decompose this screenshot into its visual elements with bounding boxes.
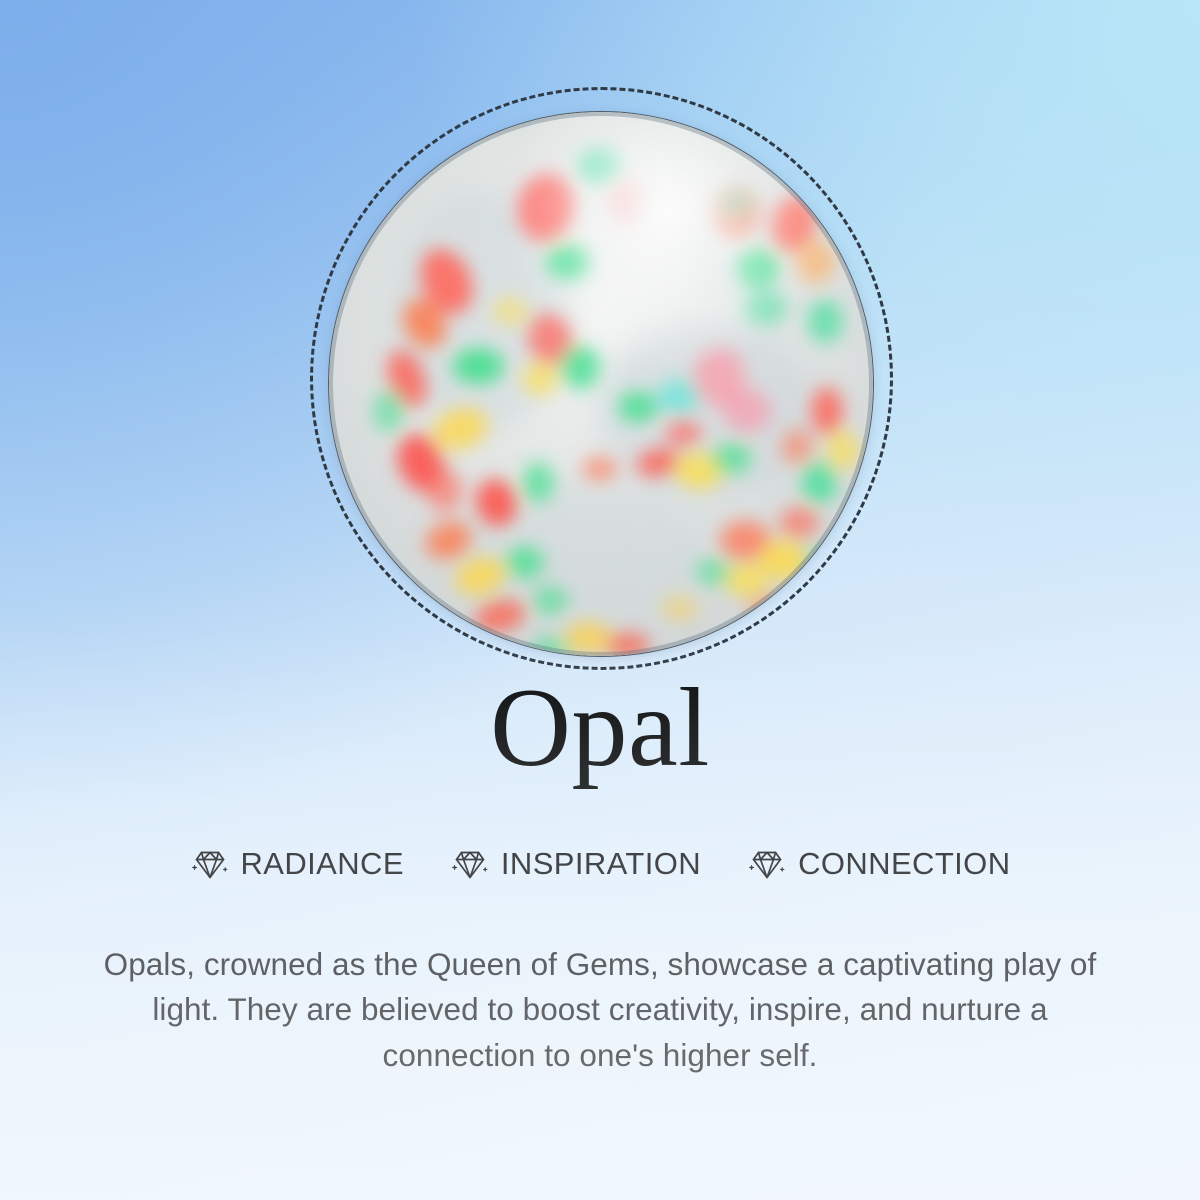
keyword-list: RADIANCE INSPIRATION [0, 844, 1200, 884]
keyword-label: CONNECTION [798, 846, 1010, 882]
gem-title: Opal [0, 672, 1200, 784]
gem-image-block [310, 87, 893, 670]
keyword-item-connection: CONNECTION [747, 844, 1010, 884]
diamond-gem-icon [450, 844, 490, 884]
keyword-label: INSPIRATION [501, 846, 701, 882]
gem-description: Opals, crowned as the Queen of Gems, sho… [100, 942, 1100, 1078]
keyword-item-inspiration: INSPIRATION [450, 844, 701, 884]
keyword-item-radiance: RADIANCE [190, 844, 404, 884]
diamond-gem-icon [190, 844, 230, 884]
gemstone-info-card: Opal RADIANCE [0, 0, 1200, 1200]
opal-gemstone-image [328, 111, 874, 657]
keyword-label: RADIANCE [241, 846, 404, 882]
diamond-gem-icon [747, 844, 787, 884]
